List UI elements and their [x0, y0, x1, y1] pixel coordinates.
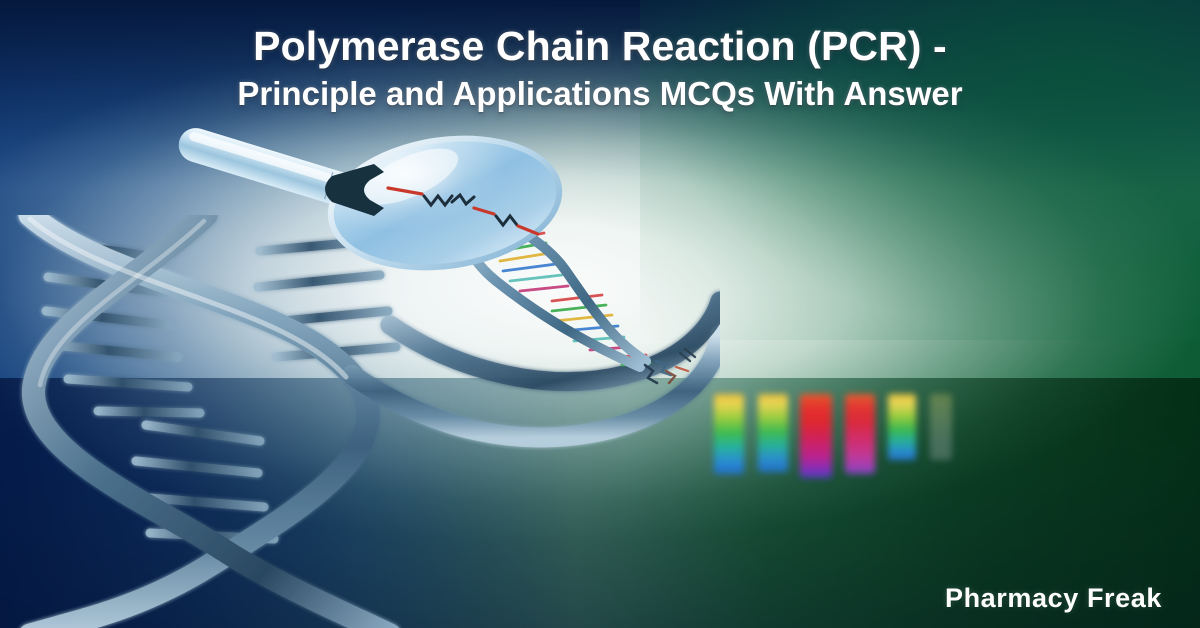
- pcr-banner-image: Polymerase Chain Reaction (PCR) - Princi…: [0, 0, 1200, 628]
- magnifying-glass: [170, 128, 590, 288]
- brand-watermark: Pharmacy Freak: [945, 583, 1162, 614]
- gel-lane: [800, 394, 832, 478]
- gel-lane: [758, 394, 788, 472]
- gel-lane: [714, 394, 744, 474]
- gel-lane: [888, 394, 916, 460]
- gel-lane: [930, 394, 952, 460]
- gel-electrophoresis-bands: [700, 388, 980, 480]
- gel-lane: [845, 394, 875, 474]
